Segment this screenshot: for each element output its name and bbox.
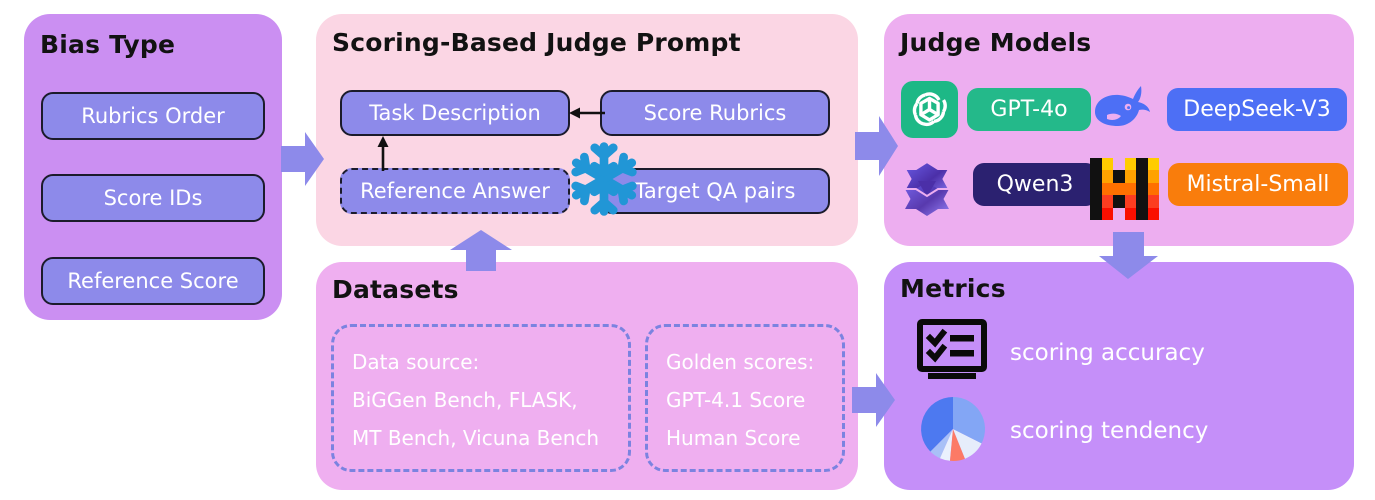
model-pill-qwen3[interactable]: Qwen3	[973, 163, 1097, 206]
bias-item-label: Rubrics Order	[81, 104, 225, 128]
prompt-box-label: Reference Answer	[360, 179, 550, 203]
arrow-prompt-to-models	[855, 114, 899, 178]
panel-bias-type-title: Bias Type	[40, 30, 175, 59]
pie-chart-icon	[917, 393, 989, 465]
openai-logo-icon	[901, 81, 958, 138]
prompt-box-score-rubrics[interactable]: Score Rubrics	[600, 90, 830, 136]
model-pill-label: DeepSeek-V3	[1183, 97, 1330, 122]
model-pill-mistral-small[interactable]: Mistral-Small	[1168, 163, 1348, 206]
prompt-box-label: Score Rubrics	[644, 101, 787, 125]
arrow-datasets-to-metrics	[852, 371, 896, 429]
arrow-models-to-metrics	[1098, 232, 1160, 280]
panel-datasets-title: Datasets	[332, 275, 459, 304]
panel-prompt-title: Scoring-Based Judge Prompt	[332, 28, 741, 57]
bias-item-label: Reference Score	[67, 269, 238, 293]
model-pill-label: Mistral-Small	[1187, 172, 1330, 197]
prompt-box-task-description[interactable]: Task Description	[340, 90, 570, 136]
datasets-group-line: MT Bench, Vicuna Bench	[352, 426, 599, 450]
deepseek-whale-logo-icon	[1091, 82, 1153, 135]
panel-metrics-title: Metrics	[900, 274, 1006, 303]
datasets-group-heading: Data source:	[352, 350, 479, 374]
mistral-logo-icon	[1090, 158, 1160, 220]
bias-item-label: Score IDs	[104, 186, 203, 210]
prompt-box-label: Task Description	[369, 101, 541, 125]
prompt-box-reference-answer[interactable]: Reference Answer	[340, 168, 570, 214]
prompt-box-label: Target QA pairs	[635, 179, 796, 203]
model-pill-deepseek-v3[interactable]: DeepSeek-V3	[1167, 88, 1347, 131]
panel-models-title: Judge Models	[900, 28, 1091, 57]
bias-item-score-ids[interactable]: Score IDs	[41, 174, 265, 222]
datasets-group-data-source: Data source: BiGGen Bench, FLASK, MT Ben…	[331, 324, 631, 472]
metric-label-scoring-tendency: scoring tendency	[1010, 418, 1208, 444]
bias-item-rubrics-order[interactable]: Rubrics Order	[41, 92, 265, 140]
qwen-logo-icon	[896, 158, 958, 220]
datasets-group-line: Human Score	[666, 426, 801, 450]
datasets-group-line: BiGGen Bench, FLASK,	[352, 388, 578, 412]
model-pill-label: GPT-4o	[990, 97, 1067, 122]
model-pill-label: Qwen3	[997, 172, 1074, 197]
arrow-bias-to-prompt	[281, 130, 325, 188]
datasets-group-golden-scores: Golden scores: GPT-4.1 Score Human Score	[645, 324, 845, 472]
datasets-group-line: GPT-4.1 Score	[666, 388, 805, 412]
checklist-monitor-icon	[916, 320, 988, 380]
metric-label-scoring-accuracy: scoring accuracy	[1010, 340, 1205, 366]
diagram-canvas: Bias Type Rubrics Order Score IDs Refere…	[0, 0, 1375, 500]
arrow-datasets-to-prompt	[448, 230, 514, 272]
arrow-rubrics-to-task	[566, 100, 606, 126]
model-pill-gpt-4o[interactable]: GPT-4o	[967, 88, 1091, 131]
snowflake-icon	[567, 141, 641, 217]
arrow-reference-to-task	[370, 134, 396, 172]
datasets-group-heading: Golden scores:	[666, 350, 814, 374]
bias-item-reference-score[interactable]: Reference Score	[41, 257, 265, 305]
